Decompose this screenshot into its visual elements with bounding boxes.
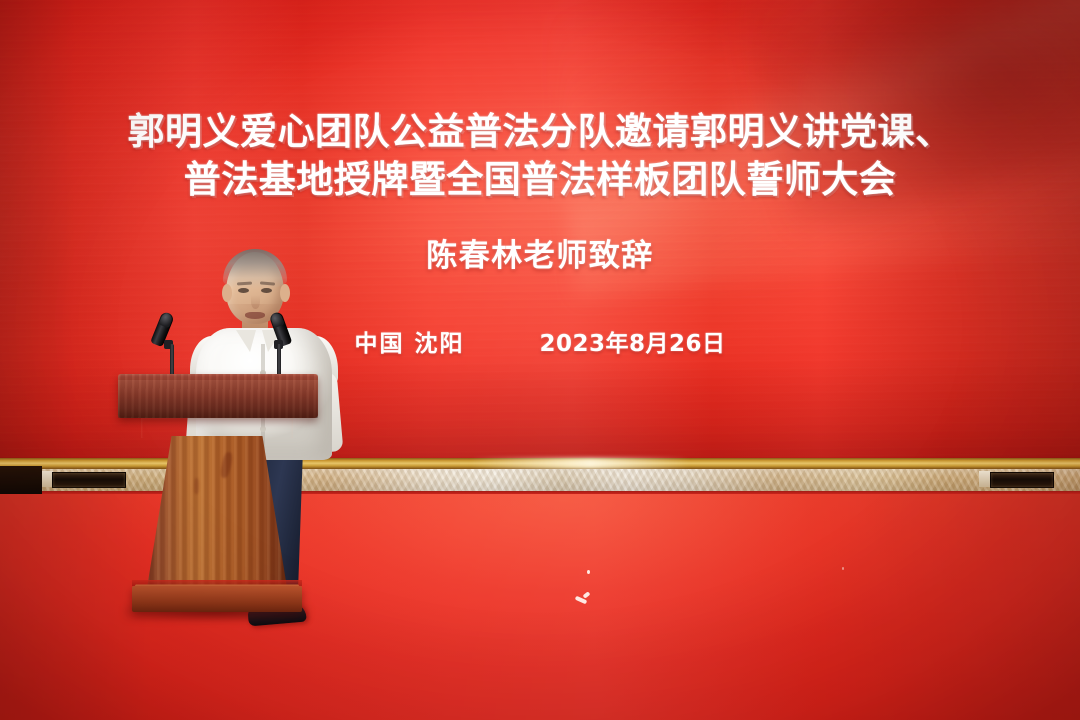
wooden-podium xyxy=(118,374,318,620)
podium-top-panel xyxy=(118,374,318,418)
speaker-eye-right xyxy=(261,288,272,293)
podium-top-face-shading xyxy=(118,380,318,418)
speaker-collar-left xyxy=(236,330,256,352)
speaker-nose xyxy=(251,295,260,309)
banner-location: 中国 沈阳 xyxy=(354,331,464,357)
outlet-plate-right xyxy=(979,471,990,487)
banner-title-line-2: 普法基地授牌暨全国普法样板团队誓师大会 xyxy=(0,156,1080,204)
podium-wood-mark xyxy=(194,478,199,494)
wall-dark-post-left xyxy=(0,466,42,496)
floor-debris-speck xyxy=(842,567,844,570)
wall-outlet-right xyxy=(990,472,1054,488)
speaker-ear-right xyxy=(280,284,290,302)
podium-neck xyxy=(141,416,293,438)
gold-trim-highlight xyxy=(470,458,690,469)
floor-debris-speck xyxy=(587,570,590,574)
podium-fluting xyxy=(146,436,288,594)
banner-title-line-1: 郭明义爱心团队公益普法分队邀请郭明义讲党课、 xyxy=(0,108,1080,156)
wall-outlet-left xyxy=(52,472,126,488)
podium-base-plinth xyxy=(132,586,302,612)
conference-stage-photo: 郭明义爱心团队公益普法分队邀请郭明义讲党课、 普法基地授牌暨全国普法样板团队誓师… xyxy=(0,0,1080,720)
speaker-eye-left xyxy=(238,288,249,293)
speaker-hair xyxy=(223,249,287,289)
banner-date: 2023年8月26日 xyxy=(540,331,726,357)
banner-subtitle: 陈春林老师致辞 xyxy=(0,236,1080,276)
